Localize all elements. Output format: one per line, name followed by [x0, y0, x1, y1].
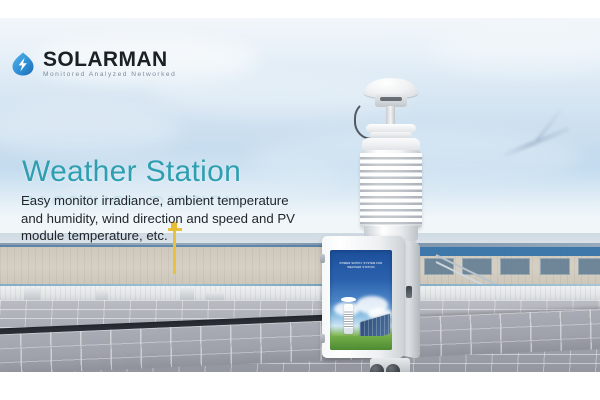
hero-description-line: module temperature, etc. — [21, 227, 341, 245]
hero-description-line: Easy monitor irradiance, ambient tempera… — [21, 192, 341, 210]
label-sensor-top — [341, 297, 356, 302]
label-weather-station — [344, 304, 353, 334]
top-letterbox-band — [0, 0, 600, 18]
building-window — [540, 258, 570, 275]
brand-tagline: Monitored Analyzed Networked — [43, 72, 176, 79]
building-window — [462, 258, 492, 275]
mount-clamp — [370, 364, 384, 372]
label-ground — [330, 336, 392, 350]
radiation-shield — [360, 150, 422, 228]
hero-description-line: and humidity, wind direction and speed a… — [21, 210, 341, 228]
anemometer-transducer — [380, 97, 402, 101]
brand-text-block: SOLARMAN Monitored Analyzed Networked — [43, 49, 176, 79]
enclosure-label-artwork: POWER SUPPLY SYSTEM FOR WEATHER STATION — [330, 250, 392, 350]
building-window — [500, 258, 530, 275]
enclosure-hinge — [320, 334, 325, 343]
building-window — [578, 258, 600, 275]
hero-description: Easy monitor irradiance, ambient tempera… — [21, 192, 341, 245]
banner-image: POWER SUPPLY SYSTEM FOR WEATHER STATION — [0, 0, 600, 400]
enclosure-latch — [406, 286, 412, 298]
bottom-letterbox-band — [0, 372, 600, 400]
page-title: Weather Station — [22, 155, 241, 189]
label-shield-louvers — [344, 310, 353, 328]
shield-louvers — [360, 153, 422, 225]
enclosure-hinge — [320, 254, 325, 263]
brand-name: SOLARMAN — [43, 49, 176, 70]
brand-lockup: SOLARMAN Monitored Analyzed Networked — [10, 49, 176, 79]
shield-top-plate — [362, 138, 420, 150]
enclosure-label-text: POWER SUPPLY SYSTEM FOR WEATHER STATION — [334, 262, 388, 270]
anemometer-neck — [386, 106, 395, 126]
photo-scene: POWER SUPPLY SYSTEM FOR WEATHER STATION — [0, 18, 600, 372]
solarman-logo-icon — [10, 51, 36, 77]
mount-clamp — [386, 364, 400, 372]
